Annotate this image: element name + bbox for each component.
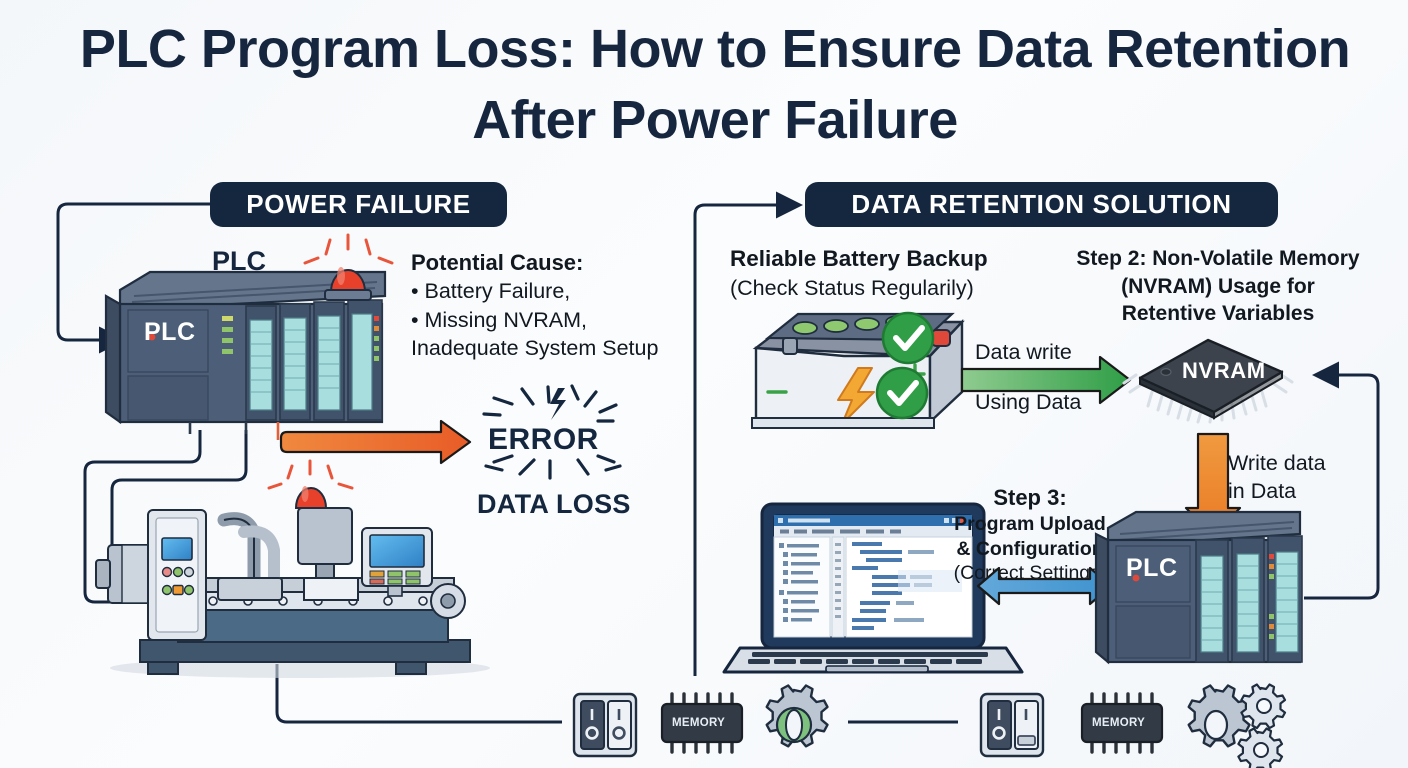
bottom-icon-strip xyxy=(0,0,1408,768)
power-switch-icon xyxy=(574,694,636,756)
infographic-canvas: PLC Program Loss: How to Ensure Data Ret… xyxy=(0,0,1408,768)
memory-chip-label-2: MEMORY xyxy=(1092,717,1145,729)
gear-green-icon xyxy=(767,686,828,747)
memory-chip-label-1: MEMORY xyxy=(672,717,725,729)
gears-icon xyxy=(1189,685,1285,768)
power-switch-icon xyxy=(981,694,1043,756)
